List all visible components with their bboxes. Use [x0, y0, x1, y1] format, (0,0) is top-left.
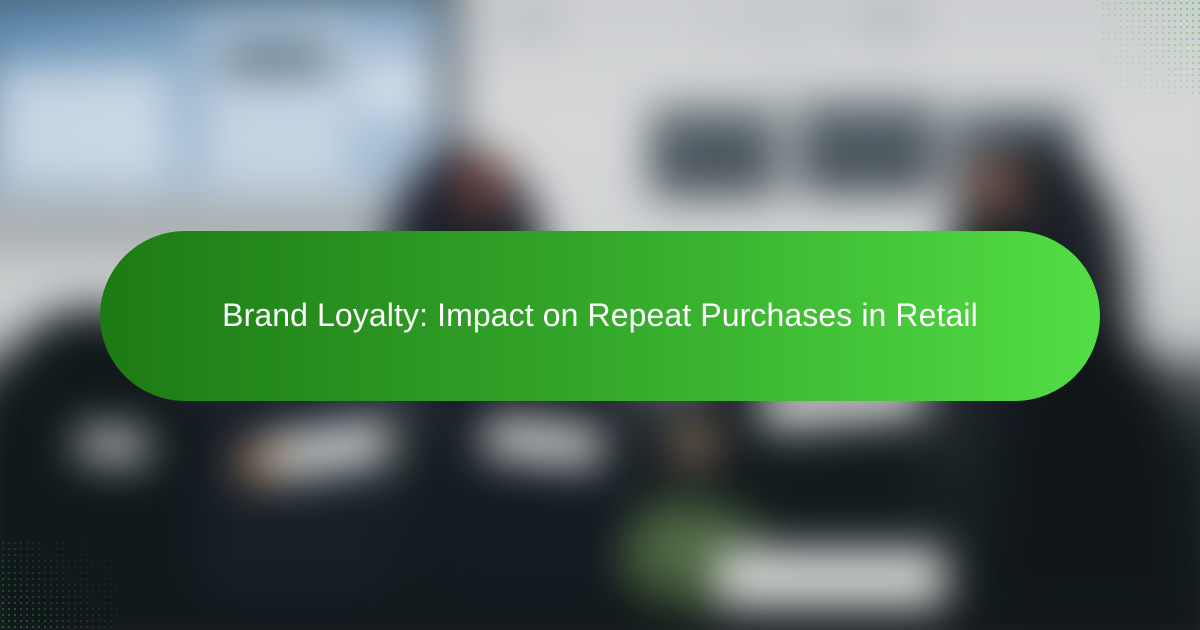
monitor-rail [700, 18, 910, 25]
presentation-screen-panel-b [200, 18, 350, 188]
table-surface [716, 548, 946, 608]
document-5 [77, 428, 149, 463]
presentation-screen-panel-a [0, 64, 172, 184]
person-head-3 [454, 154, 510, 216]
presentation-screen-panel-c [358, 58, 436, 118]
presentation-screen-titlebar [222, 46, 332, 72]
wall-monitor-2 [798, 102, 938, 194]
share-card-canvas: Brand Loyalty: Impact on Repeat Purchase… [0, 0, 1200, 630]
presentation-screen [0, 0, 440, 198]
title-pill: Brand Loyalty: Impact on Repeat Purchase… [100, 231, 1100, 401]
person-hand-1 [236, 446, 282, 480]
wall-marking-left [500, 12, 560, 34]
person-head-6 [970, 156, 1024, 216]
wall-monitor-1 [650, 108, 778, 196]
person-hand-2 [676, 430, 718, 460]
page-title: Brand Loyalty: Impact on Repeat Purchase… [222, 288, 978, 343]
monitor-stem [778, 22, 784, 114]
